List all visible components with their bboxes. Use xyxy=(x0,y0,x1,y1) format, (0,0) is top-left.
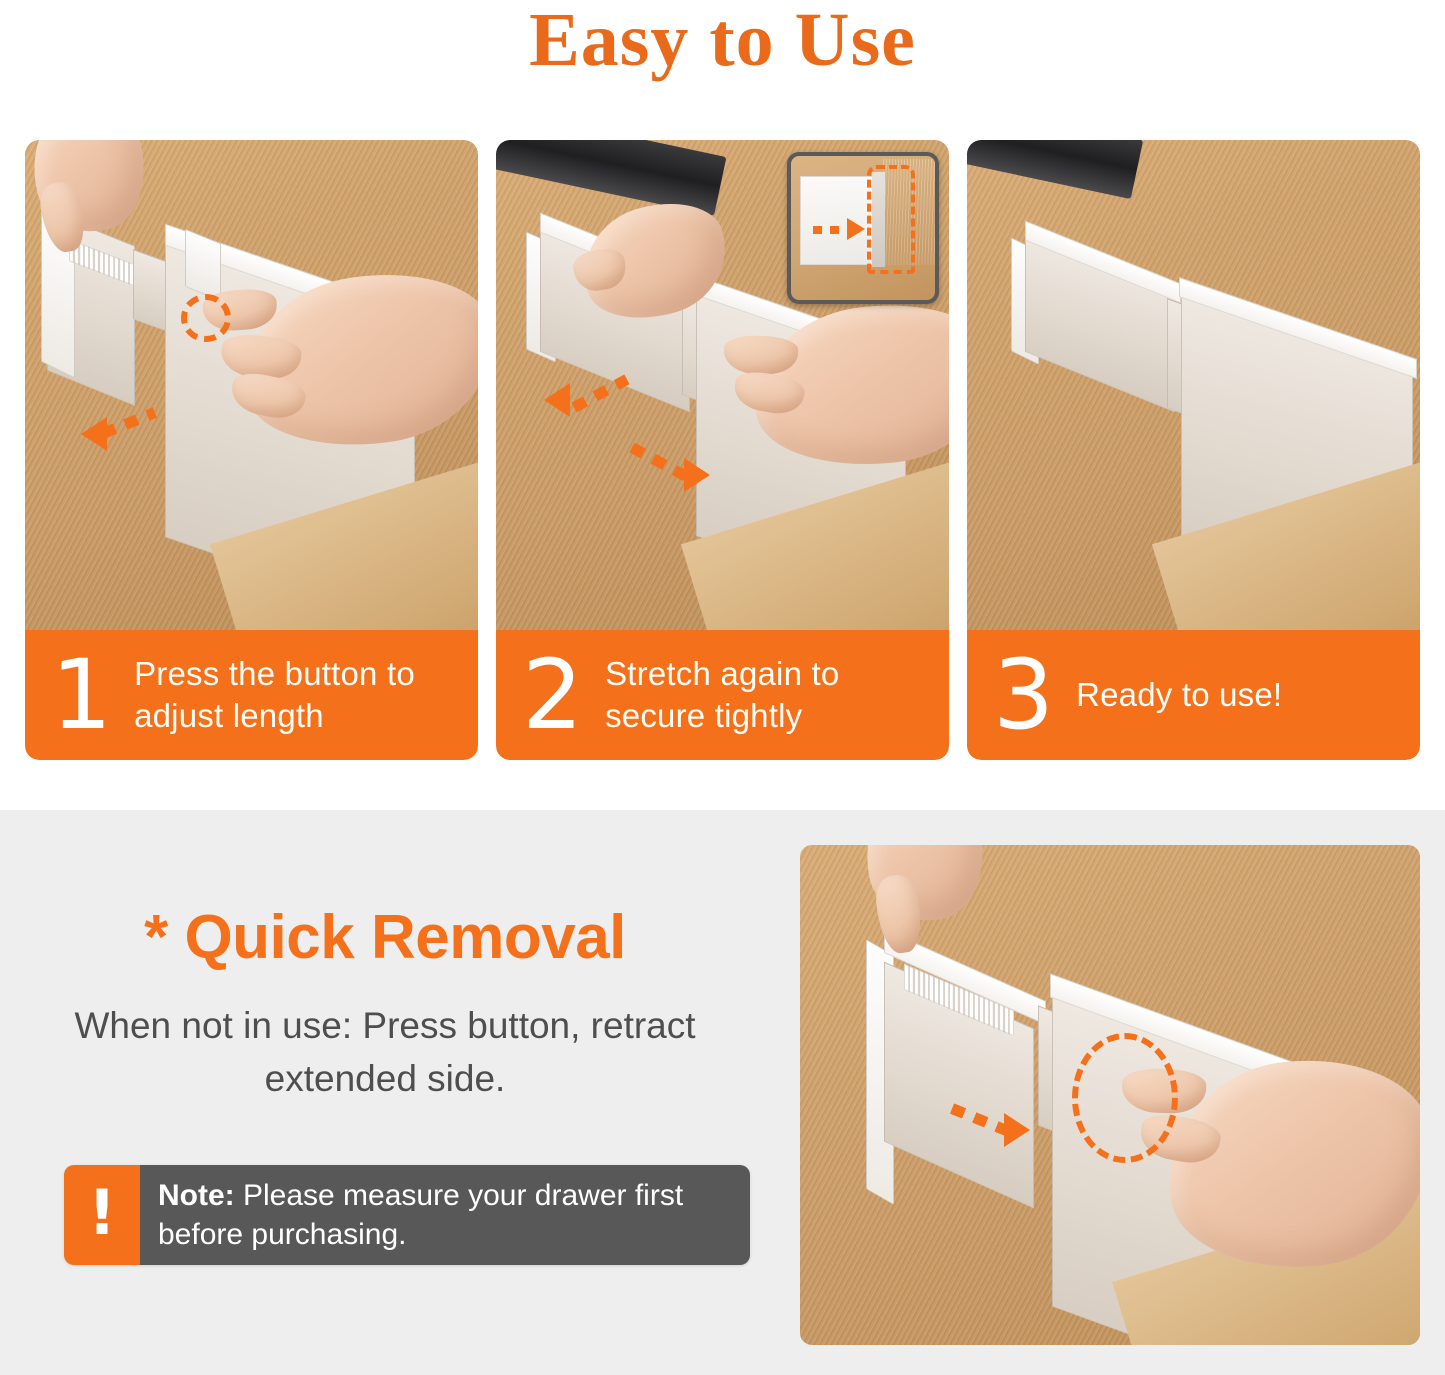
step-1-number: 1 xyxy=(51,653,112,737)
removal-photo xyxy=(800,845,1420,1345)
button-highlight-circle-removal xyxy=(1072,1033,1178,1163)
note-prefix: Note: xyxy=(158,1179,235,1212)
removal-title: * Quick Removal xyxy=(0,905,770,970)
removal-text-block: * Quick Removal When not in use: Press b… xyxy=(0,905,770,1105)
removal-description: When not in use: Press button, retract e… xyxy=(0,1000,770,1105)
step-3-text: Ready to use! xyxy=(1076,674,1282,716)
inset-arrow xyxy=(813,226,849,234)
step-3-caption: 3 Ready to use! xyxy=(967,630,1420,760)
button-highlight-circle-1 xyxy=(181,294,231,342)
step-2-caption: 2 Stretch again to secure tightly xyxy=(496,630,949,760)
step-2-photo xyxy=(496,140,949,630)
step-2-text: Stretch again to secure tightly xyxy=(605,653,931,737)
direction-arrow-1 xyxy=(101,407,157,438)
step-card-2: 2 Stretch again to secure tightly xyxy=(496,140,949,760)
easy-to-use-section: Easy to Use xyxy=(0,0,1445,810)
step-1-text: Press the button to adjust length xyxy=(134,653,460,737)
step-3-number: 3 xyxy=(993,653,1054,737)
exclamation-icon: ! xyxy=(64,1165,140,1265)
step-card-3: 3 Ready to use! xyxy=(967,140,1420,760)
direction-arrow-2-left xyxy=(571,374,629,412)
direction-arrow-2-right xyxy=(629,443,689,482)
step-1-caption: 1 Press the button to adjust length xyxy=(25,630,478,760)
step-card-1: 1 Press the button to adjust length xyxy=(25,140,478,760)
note-bar: ! Note: Please measure your drawer first… xyxy=(64,1165,750,1265)
corner-fit-inset xyxy=(787,152,939,304)
note-text: Note: Please measure your drawer first b… xyxy=(140,1165,750,1265)
steps-row: 1 Press the button to adjust length xyxy=(25,140,1420,760)
page-title: Easy to Use xyxy=(0,2,1445,78)
note-message: Please measure your drawer first before … xyxy=(158,1179,683,1251)
step-2-number: 2 xyxy=(522,653,583,737)
step-1-photo xyxy=(25,140,478,630)
step-3-photo xyxy=(967,140,1420,630)
inset-dashed-outline xyxy=(867,165,915,274)
